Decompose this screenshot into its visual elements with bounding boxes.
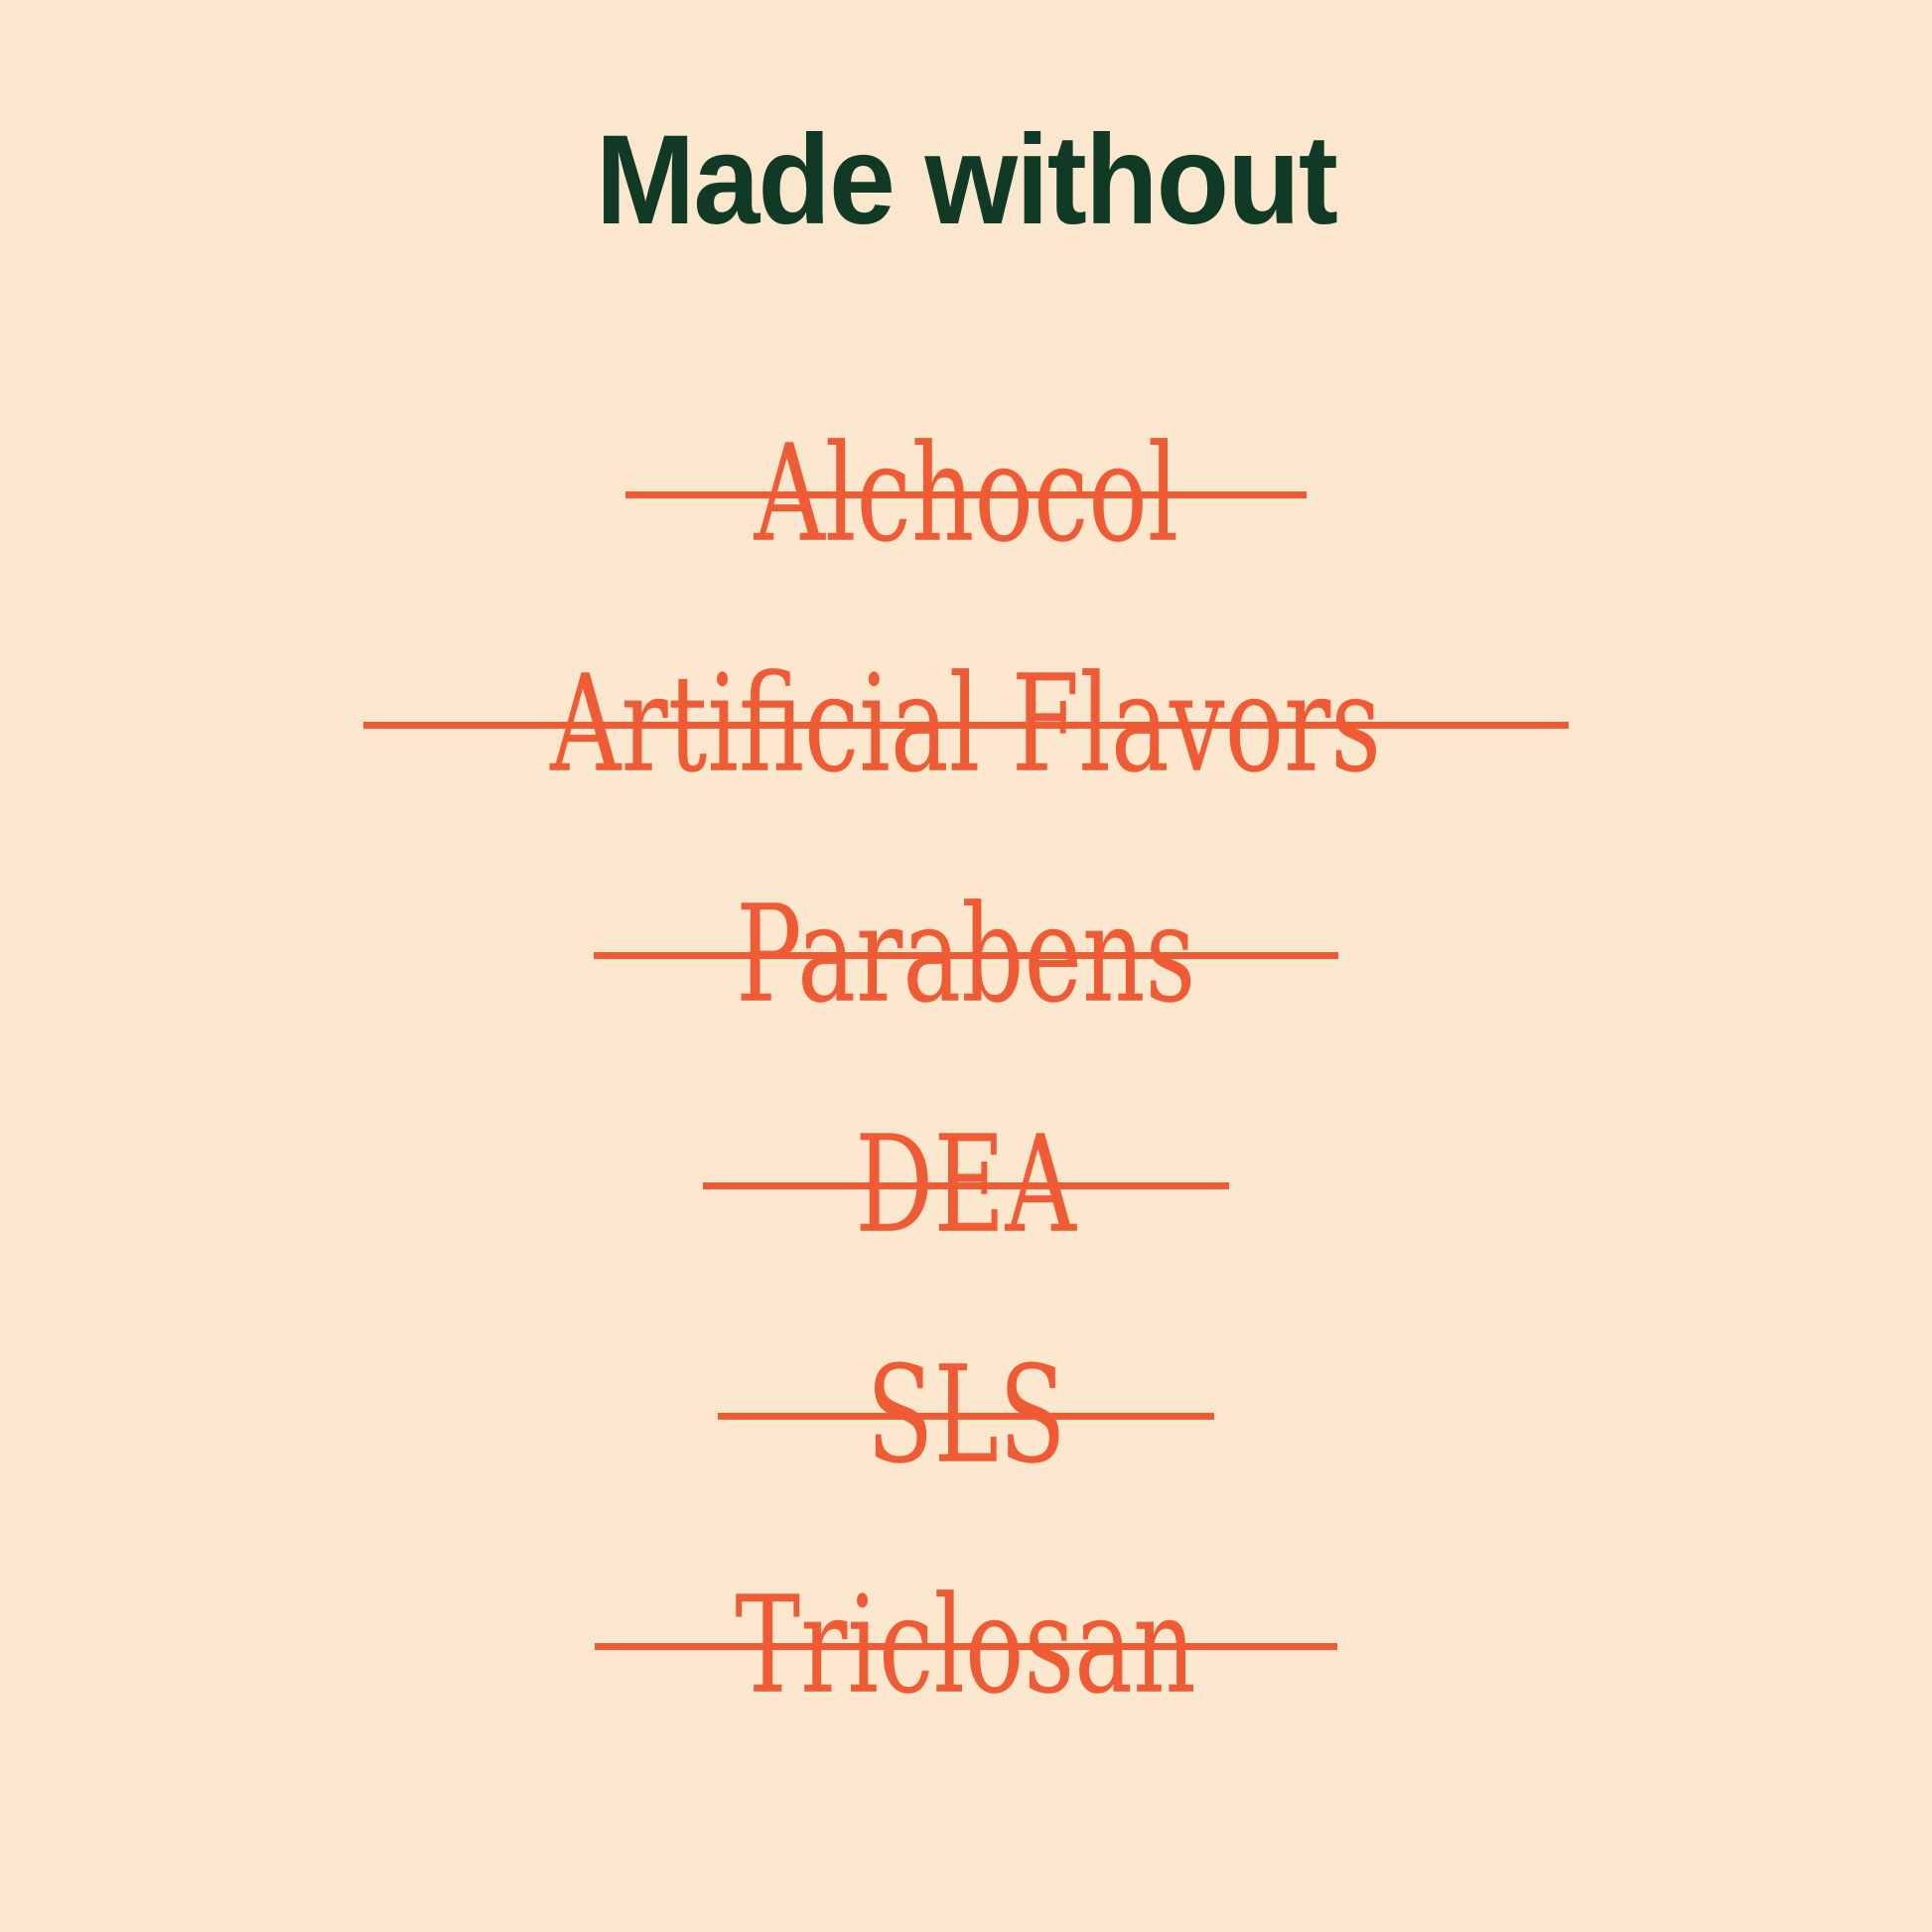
list-item: SLS — [0, 1300, 1932, 1530]
strikethrough-line-icon — [625, 491, 1308, 498]
strikethrough-line-icon — [594, 952, 1337, 959]
list-item: Parabens — [0, 839, 1932, 1069]
list-item: DEA — [0, 1069, 1932, 1300]
list-item: Triclosan — [0, 1530, 1932, 1760]
strikethrough-line-icon — [703, 1182, 1228, 1189]
made-without-graphic: Made without Alchocol Artificial Flavors — [0, 0, 1932, 1932]
strikethrough-line-icon — [718, 1413, 1214, 1420]
list-item-content: Triclosan — [0, 1530, 1932, 1760]
strikethrough-line-icon — [363, 722, 1568, 729]
list-item-content: DEA — [0, 1069, 1932, 1300]
list-item-content: Alchocol — [0, 378, 1932, 609]
page-title: Made without — [58, 117, 1873, 244]
list-item-content: Artificial Flavors — [0, 609, 1932, 839]
excluded-ingredients-list: Alchocol Artificial Flavors Parabens — [0, 378, 1932, 1760]
list-item: Alchocol — [0, 378, 1932, 609]
struck-ingredient: Triclosan — [662, 1581, 1269, 1710]
list-item: Artificial Flavors — [0, 609, 1932, 839]
strikethrough-line-icon — [595, 1643, 1336, 1650]
struck-ingredient: Artificial Flavors — [419, 659, 1512, 788]
struck-ingredient: Parabens — [663, 890, 1268, 1019]
struck-ingredient: Alchocol — [687, 429, 1246, 558]
list-item-content: Parabens — [0, 839, 1932, 1069]
struck-ingredient: SLS — [835, 1350, 1097, 1479]
struck-ingredient: DEA — [820, 1120, 1111, 1249]
list-item-content: SLS — [0, 1300, 1932, 1530]
